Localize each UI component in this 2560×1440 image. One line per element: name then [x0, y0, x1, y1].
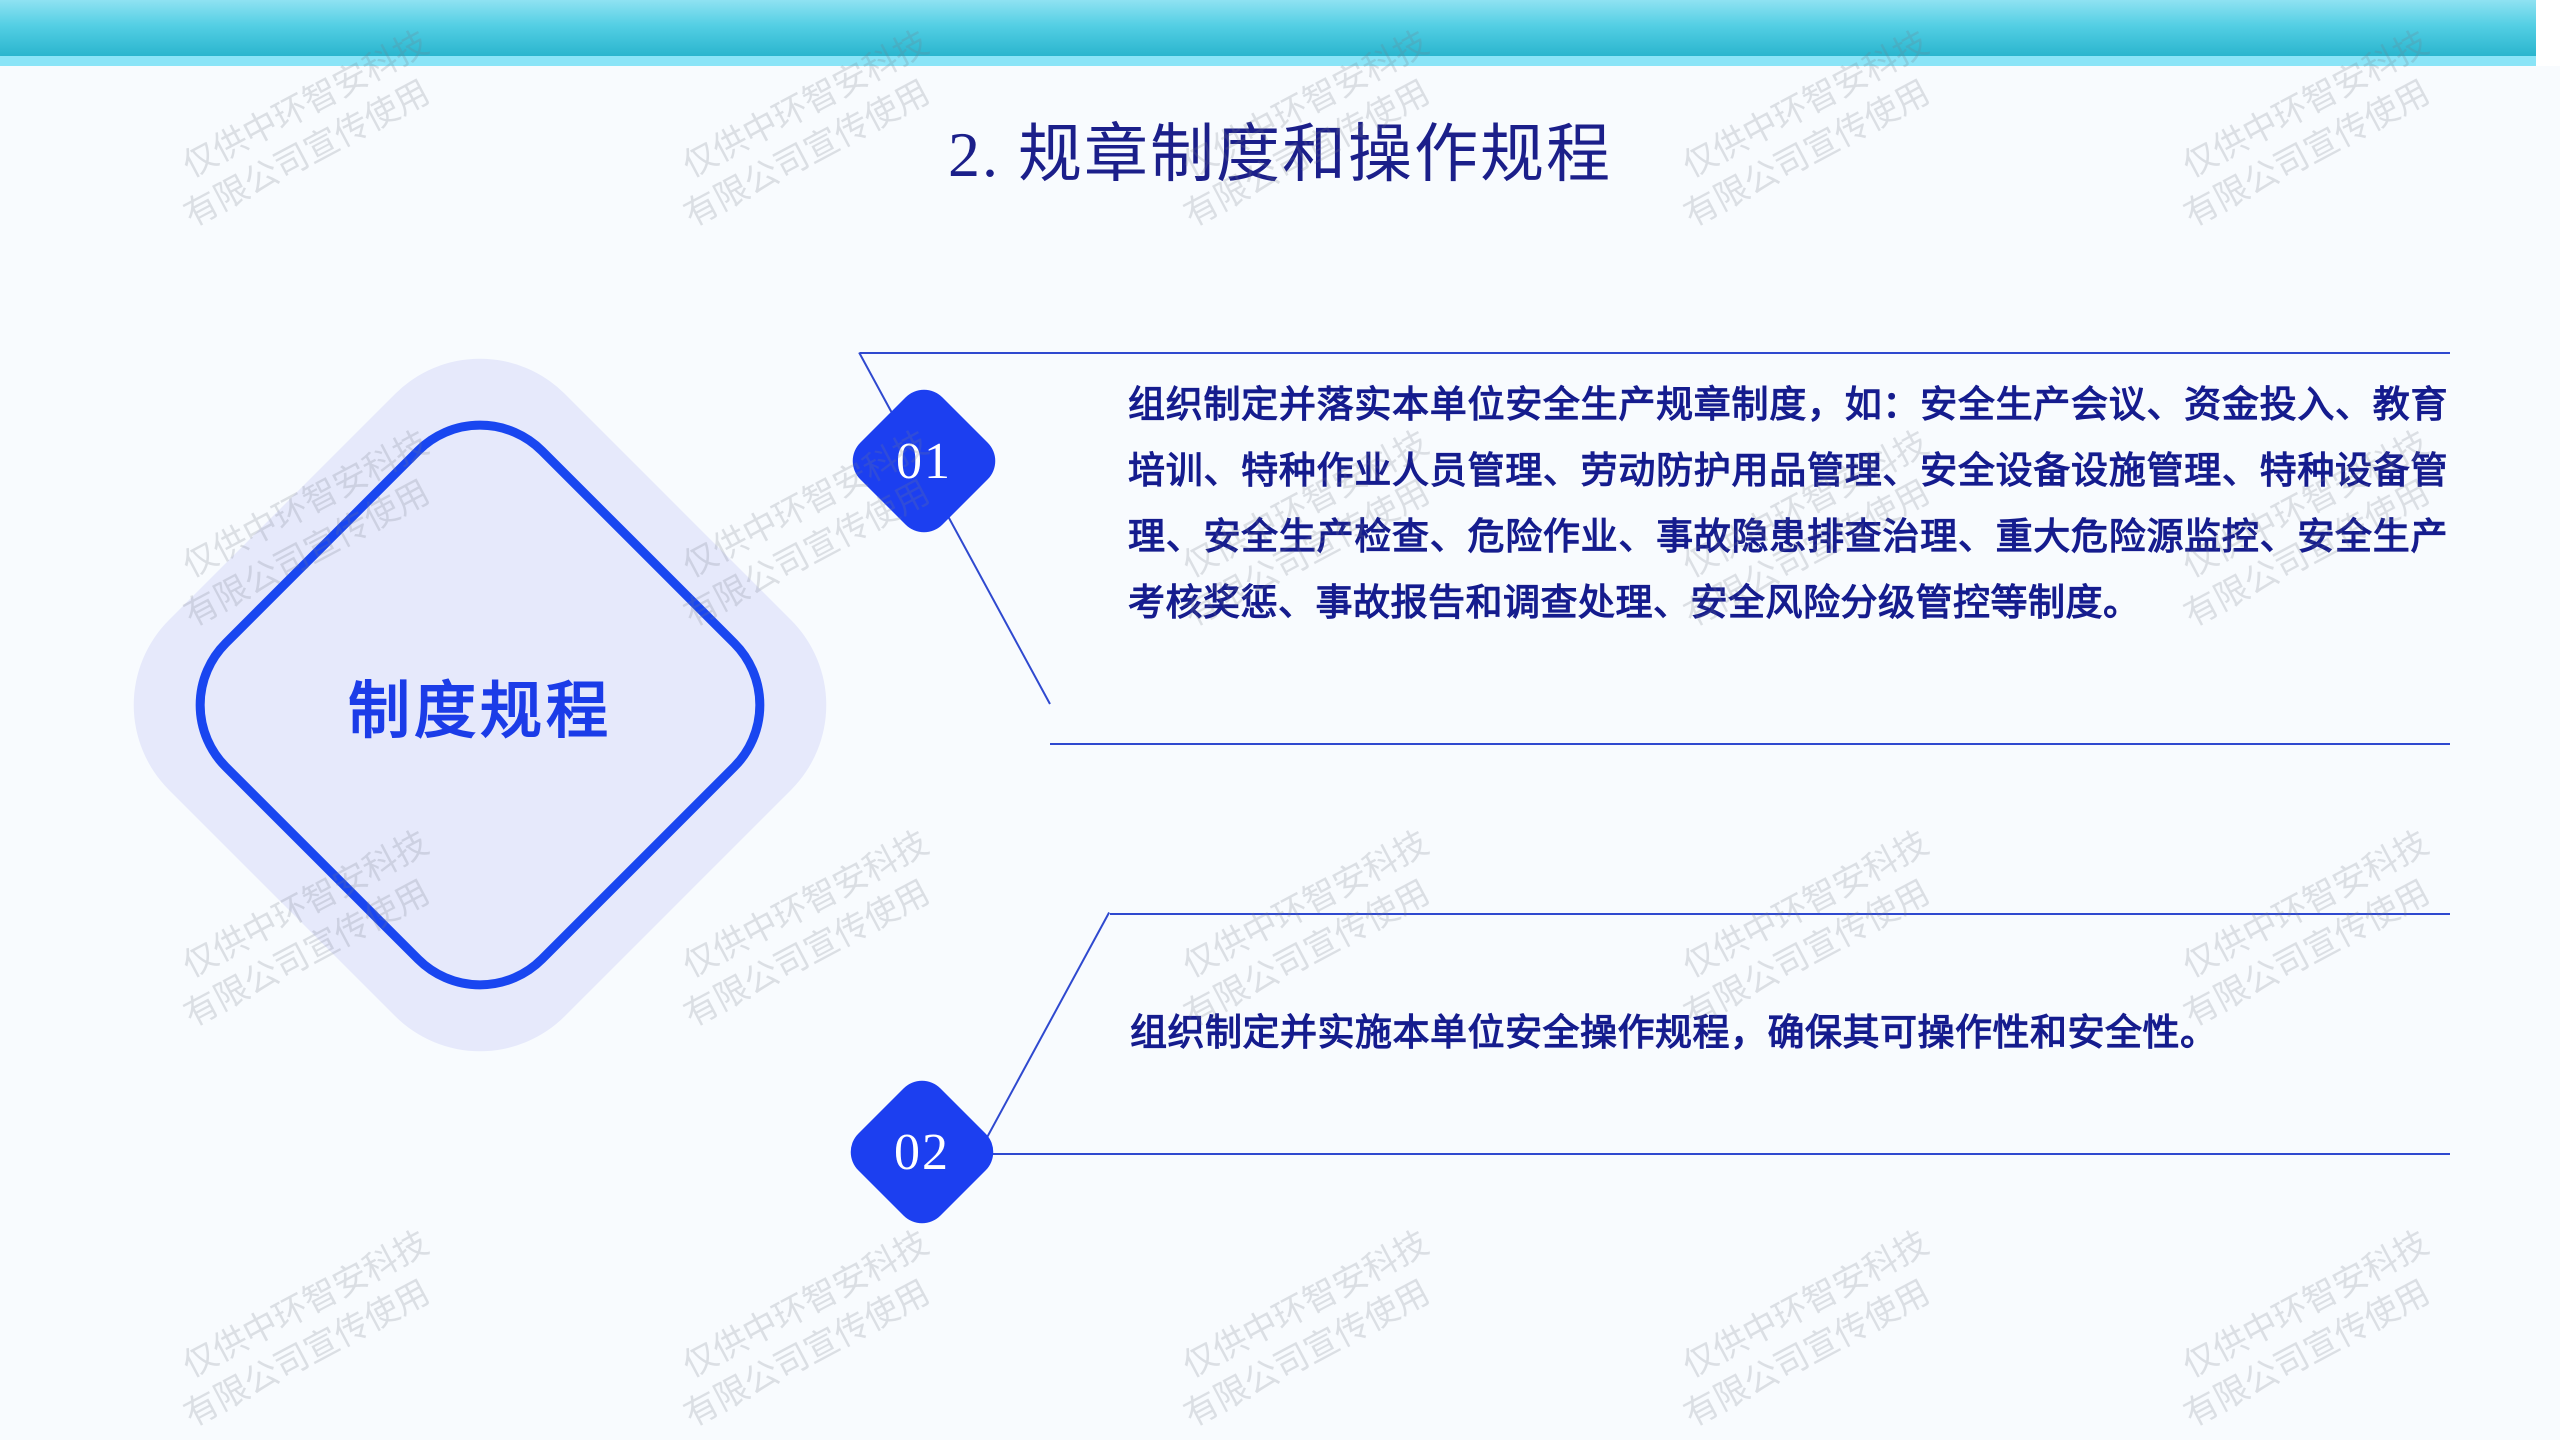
callout-02-text: 组织制定并实施本单位安全操作规程，确保其可操作性和安全性。: [1130, 1000, 2430, 1066]
slide-canvas: 2. 规章制度和操作规程 制度规程 01 组织制定并落实本单位安全生产规章制度，…: [0, 0, 2560, 1440]
watermark-text: 仅供中环智安科技有限公司宣传使用: [1175, 821, 1456, 1026]
watermark-text: 仅供中环智安科技有限公司宣传使用: [1175, 1221, 1456, 1426]
page-title: 2. 规章制度和操作规程: [0, 120, 2560, 190]
top-banner: [0, 0, 2560, 56]
banner-right-clip: [2536, 0, 2560, 66]
callout-01-bottom-line: [1050, 743, 2450, 745]
banner-underline: [0, 56, 2560, 66]
callout-01-top-line: [860, 352, 2450, 354]
watermark-text: 仅供中环智安科技有限公司宣传使用: [675, 1221, 956, 1426]
callout-02-top-line: [1110, 913, 2450, 915]
watermark-text: 仅供中环智安科技有限公司宣传使用: [175, 1221, 456, 1426]
watermark-text: 仅供中环智安科技有限公司宣传使用: [1675, 821, 1956, 1026]
diamond-label: 制度规程: [200, 425, 760, 985]
callout-02-bottom-line: [960, 1153, 2450, 1155]
watermark-text: 仅供中环智安科技有限公司宣传使用: [1675, 1221, 1956, 1426]
watermark-text: 仅供中环智安科技有限公司宣传使用: [2175, 1221, 2456, 1426]
callout-01-text: 组织制定并落实本单位安全生产规章制度，如：安全生产会议、资金投入、教育培训、特种…: [1128, 372, 2448, 636]
callout-02-badge-number: 02: [864, 1094, 980, 1210]
watermark-text: 仅供中环智安科技有限公司宣传使用: [2175, 821, 2456, 1026]
callout-01-badge-number: 01: [866, 403, 982, 519]
